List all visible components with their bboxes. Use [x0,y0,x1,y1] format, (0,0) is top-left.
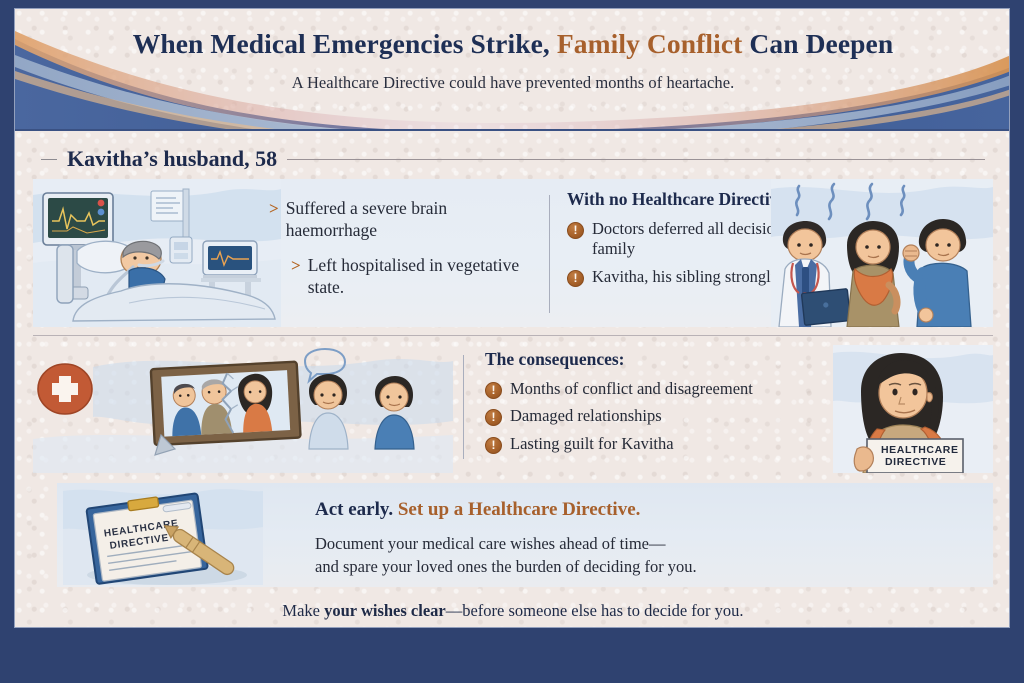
header-text-block: When Medical Emergencies Strike, Family … [15,29,1010,93]
document-label-line2: DIRECTIVE [885,456,946,468]
footer-part-1: Make [282,601,324,620]
alert-exclamation-icon: ! [567,222,584,239]
cta-heading-bold: Act early. [315,499,398,520]
alert-bullet-item: ! Months of conflict and disagreement [485,379,875,399]
alert-exclamation-icon: ! [485,409,502,426]
chevron-right-icon: > [291,255,301,276]
section2-vertical-divider [463,355,464,459]
title-part-1: When Medical Emergencies Strike, [133,28,557,59]
woman-holding-directive-illustration: HEALTHCARE DIRECTIVE [833,345,993,473]
heading-rule-left [41,159,57,160]
section1-panel: > Suffered a severe brain haemorrhage > … [33,179,993,327]
section1-heading: Kavitha’s husband, 58 [67,146,277,172]
document-label-line1: HEALTHCARE [881,444,959,456]
woman-figure [847,221,899,327]
bullet-text: Suffered a severe brain haemorrhage [286,197,539,242]
medical-cross-badge [38,364,92,414]
cta-body-line-1: Document your medical care wishes ahead … [315,532,875,555]
cta-panel: HEALTHCARE DIRECTIVE [57,483,993,587]
section2-panel: The consequences: ! Months of conflict a… [33,343,993,473]
cta-heading: Act early. Set up a Healthcare Directive… [315,499,875,521]
title-part-2: Can Deepen [742,28,893,59]
alert-exclamation-icon: ! [485,437,502,454]
hospital-bed-patient-illustration [33,179,281,327]
section2-text-block: The consequences: ! Months of conflict a… [485,349,875,461]
alert-bullet-text: Lasting guilt for Kavitha [510,434,674,454]
alert-exclamation-icon: ! [567,270,584,287]
alert-bullet-item: ! Damaged relationships [485,406,875,426]
alert-bullet-item: ! Lasting guilt for Kavitha [485,434,875,454]
title-accent: Family Conflict [557,28,743,59]
alert-exclamation-icon: ! [485,382,502,399]
infographic-poster: When Medical Emergencies Strike, Family … [14,8,1010,628]
clipboard-directive-with-pen-illustration: HEALTHCARE DIRECTIVE [63,485,263,585]
header-banner: When Medical Emergencies Strike, Family … [15,9,1010,131]
footer-text: Make your wishes clear—before someone el… [15,601,1010,621]
page-title: When Medical Emergencies Strike, Family … [15,29,1010,59]
cta-heading-accent: Set up a Healthcare Directive. [398,499,641,520]
header-bottom-rule [15,129,1010,131]
alert-bullet-text: Damaged relationships [510,406,662,426]
chevron-right-icon: > [269,198,279,219]
alert-bullet-text: Months of conflict and disagreement [510,379,753,399]
section2-heading: The consequences: [485,349,875,370]
section1-vertical-divider [549,195,550,313]
cta-text-block: Act early. Set up a Healthcare Directive… [315,499,875,579]
footer-bold: your wishes clear [324,601,446,620]
footer-part-2: —before someone else has to decide for y… [446,601,744,620]
bullet-item: > Left hospitalised in vegetative state. [291,254,539,299]
section1-heading-row: Kavitha’s husband, 58 [41,145,985,173]
bullet-text: Left hospitalised in vegetative state. [308,254,539,299]
page-subtitle: A Healthcare Directive could have preven… [15,73,1010,93]
heading-rule-right [287,159,985,160]
section-separator [33,335,993,336]
footer-block: Make your wishes clear—before someone el… [15,601,1010,621]
cracked-family-photo-frame-illustration [33,343,453,473]
cta-body-line-2: and spare your loved ones the burden of … [315,555,875,578]
section1-bullet-list: > Suffered a severe brain haemorrhage > … [269,197,539,311]
bullet-item: > Suffered a severe brain haemorrhage [269,197,539,242]
doctor-and-arguing-family-illustration [771,179,993,327]
infographic-body: Kavitha’s husband, 58 [15,131,1010,628]
